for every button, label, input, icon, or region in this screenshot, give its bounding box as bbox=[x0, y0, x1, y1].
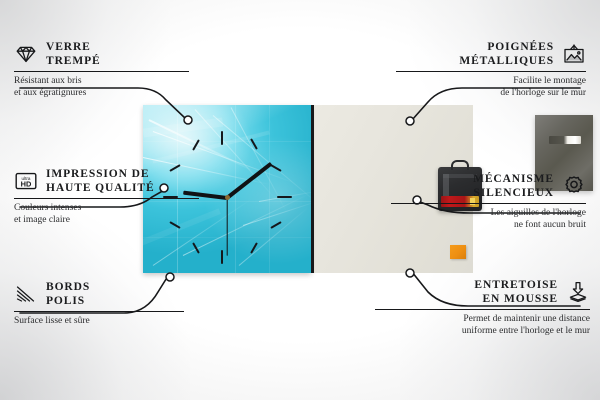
clock-tick bbox=[277, 196, 292, 198]
feature-title: MÉCANISME bbox=[473, 172, 554, 186]
feature-bords-polis[interactable]: BORDS POLIS Surface lisse et sûre bbox=[14, 280, 184, 328]
ultra-hd-icon: ultra HD bbox=[14, 169, 38, 193]
divider bbox=[14, 311, 184, 312]
divider bbox=[375, 309, 590, 310]
divider bbox=[14, 71, 189, 72]
feature-subtitle: Surface lisse et sûre bbox=[14, 316, 184, 328]
ultra-hd-icon-bottom: HD bbox=[21, 179, 32, 188]
feature-title: BORDS bbox=[46, 280, 90, 294]
feature-entretoise-en-mousse[interactable]: ENTRETOISE EN MOUSSE Permet de maintenir… bbox=[375, 278, 590, 337]
divider bbox=[396, 71, 586, 72]
feature-title-line2: HAUTE QUALITÉ bbox=[46, 181, 155, 195]
feature-subtitle-line2: uniforme entre l'horloge et le mur bbox=[375, 326, 590, 338]
feature-subtitle-line2: et image claire bbox=[14, 215, 199, 227]
feature-subtitle-line2: et aux égratignures bbox=[14, 88, 189, 100]
feature-title: ENTRETOISE bbox=[474, 278, 558, 292]
feature-mecanisme-silencieux[interactable]: MÉCANISME SILENCIEUX Les aiguilles de l'… bbox=[391, 172, 586, 231]
feature-subtitle: Permet de maintenir une distance bbox=[375, 314, 590, 326]
clock-center-cap bbox=[225, 195, 230, 200]
feature-title-line2: EN MOUSSE bbox=[474, 292, 558, 306]
feature-title-line2: TREMPÉ bbox=[46, 54, 101, 68]
feature-subtitle: Couleurs intenses bbox=[14, 203, 199, 215]
feature-subtitle: Facilite le montage bbox=[396, 76, 586, 88]
hanger-slot bbox=[549, 136, 581, 144]
feature-title: POIGNÉES bbox=[459, 40, 554, 54]
feature-title-line2: SILENCIEUX bbox=[473, 186, 554, 200]
feature-verre-trempe[interactable]: VERRE TREMPÉ Résistant aux bris et aux é… bbox=[14, 40, 189, 99]
clock-tick bbox=[221, 250, 223, 264]
feature-subtitle-line2: de l'horloge sur le mur bbox=[396, 88, 586, 100]
feature-title-line2: POLIS bbox=[46, 294, 90, 308]
feature-impression-haute-qualite[interactable]: ultra HD IMPRESSION DE HAUTE QUALITÉ Cou… bbox=[14, 167, 199, 226]
divider bbox=[14, 198, 199, 199]
polished-edge-icon bbox=[14, 282, 38, 306]
gear-icon bbox=[562, 174, 586, 198]
clock-second-hand bbox=[226, 198, 227, 256]
feature-title: VERRE bbox=[46, 40, 101, 54]
feature-subtitle-line2: ne font aucun bruit bbox=[391, 220, 586, 232]
foam-spacer-icon bbox=[566, 280, 590, 304]
feature-title: IMPRESSION DE bbox=[46, 167, 155, 181]
feature-subtitle: Les aiguilles de l'horloge bbox=[391, 208, 586, 220]
feature-subtitle: Résistant aux bris bbox=[14, 76, 189, 88]
clock-tick bbox=[221, 131, 223, 145]
infographic-canvas: VERRE TREMPÉ Résistant aux bris et aux é… bbox=[0, 0, 600, 400]
divider bbox=[391, 203, 586, 204]
feature-poignees-metalliques[interactable]: POIGNÉES MÉTALLIQUES Facilite le montage… bbox=[396, 40, 586, 99]
mechanism-hook bbox=[451, 160, 469, 170]
wall-hanger-icon bbox=[562, 42, 586, 66]
diamond-icon bbox=[14, 42, 38, 66]
foam-spacer bbox=[450, 245, 466, 259]
feature-title-line2: MÉTALLIQUES bbox=[459, 54, 554, 68]
